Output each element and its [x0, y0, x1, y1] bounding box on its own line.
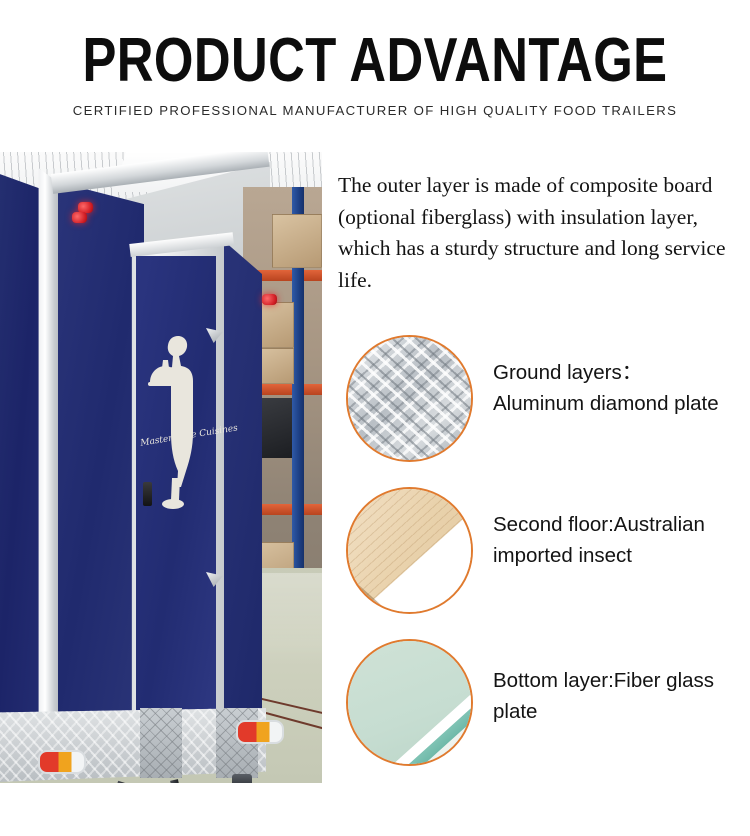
marker-lamp	[72, 212, 87, 223]
feature-item-ground-layer: Ground layers： Aluminum diamond plate	[346, 335, 736, 487]
wood-plank-texture	[348, 489, 471, 612]
mesh-panel	[140, 708, 182, 778]
second-floor-thumbnail	[346, 487, 473, 614]
page-header: PRODUCT ADVANTAGE CERTIFIED PROFESSIONAL…	[0, 0, 750, 150]
trailer-front-panel	[58, 182, 144, 734]
feature-label: Second floor:Australian imported insect	[493, 509, 733, 571]
page-subtitle: CERTIFIED PROFESSIONAL MANUFACTURER OF H…	[0, 103, 750, 119]
tail-light	[38, 750, 86, 774]
bottom-layer-thumbnail	[346, 639, 473, 766]
aluminum-diamond-plate-texture	[348, 337, 471, 460]
feature-item-bottom-layer: Bottom layer:Fiber glass plate	[346, 639, 736, 791]
ground-layer-thumbnail	[346, 335, 473, 462]
feature-list: Ground layers： Aluminum diamond plate Se…	[346, 335, 736, 791]
feature-label: Ground layers： Aluminum diamond plate	[493, 357, 733, 419]
intro-paragraph: The outer layer is made of composite boa…	[338, 170, 730, 296]
marker-lamp	[262, 294, 277, 305]
tail-light	[236, 720, 284, 744]
fiberglass-plate-texture	[348, 641, 471, 764]
warehouse-carton	[272, 214, 322, 268]
leg-bracket	[232, 774, 252, 783]
feature-item-second-floor: Second floor:Australian imported insect	[346, 487, 736, 639]
chef-mascot-logo	[148, 330, 204, 510]
content-column: The outer layer is made of composite boa…	[338, 170, 736, 296]
page-title: PRODUCT ADVANTAGE	[68, 30, 683, 92]
trailer-photo: Masterpiece Cuisines	[0, 152, 322, 783]
wood-seam	[346, 566, 456, 614]
feature-label: Bottom layer:Fiber glass plate	[493, 665, 733, 727]
